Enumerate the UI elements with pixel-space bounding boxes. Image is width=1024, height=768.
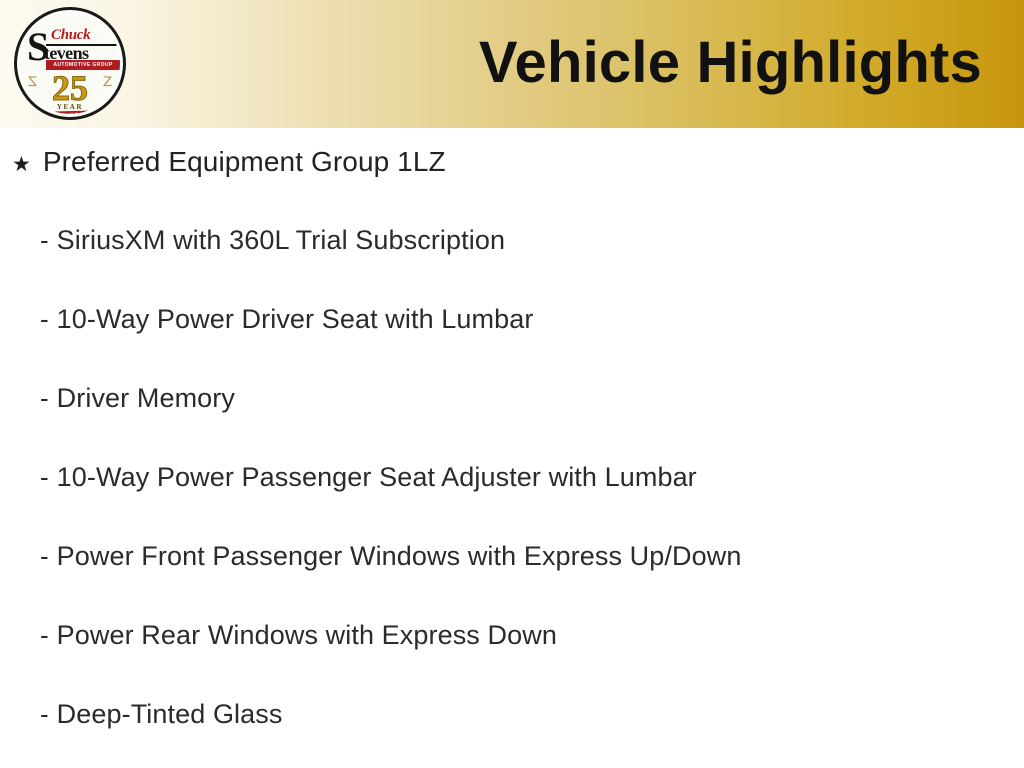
feature-label: Deep-Tinted Glass (57, 701, 283, 728)
feature-label: 10-Way Power Passenger Seat Adjuster wit… (57, 464, 697, 491)
dash-bullet-icon: - (40, 385, 49, 411)
dash-bullet-icon: - (40, 701, 49, 727)
dash-bullet-icon: - (40, 227, 49, 253)
feature-label: Driver Memory (57, 385, 235, 412)
dash-bullet-icon: - (40, 306, 49, 332)
logo-brand-second: tevens (44, 44, 88, 62)
dash-bullet-icon: - (40, 464, 49, 490)
dealer-logo: S Chuck tevens AUTOMOTIVE GROUP ᙆ ᙆ 25 Y… (14, 7, 126, 120)
feature-item: ★Preferred Equipment Group 1LZ (12, 148, 446, 176)
feature-item: -Power Front Passenger Windows with Expr… (40, 543, 741, 570)
feature-list: ★Preferred Equipment Group 1LZ-SiriusXM … (0, 128, 1024, 768)
header-band: S Chuck tevens AUTOMOTIVE GROUP ᙆ ᙆ 25 Y… (0, 0, 1024, 128)
anniversary-number: 25 (20, 70, 120, 106)
vehicle-highlights-slide: S Chuck tevens AUTOMOTIVE GROUP ᙆ ᙆ 25 Y… (0, 0, 1024, 768)
page-title: Vehicle Highlights (479, 34, 982, 92)
feature-item: -Deep-Tinted Glass (40, 701, 282, 728)
feature-label: 10-Way Power Driver Seat with Lumbar (57, 306, 534, 333)
dealer-logo-inner: S Chuck tevens AUTOMOTIVE GROUP ᙆ ᙆ 25 Y… (20, 13, 120, 114)
feature-label: Preferred Equipment Group 1LZ (43, 148, 446, 176)
feature-item: -Power Rear Windows with Express Down (40, 622, 557, 649)
feature-item: -10-Way Power Passenger Seat Adjuster wi… (40, 464, 697, 491)
feature-label: Power Front Passenger Windows with Expre… (57, 543, 742, 570)
logo-brand-first: Chuck (51, 28, 90, 43)
feature-item: -SiriusXM with 360L Trial Subscription (40, 227, 505, 254)
feature-item: -Driver Memory (40, 385, 235, 412)
logo-monogram-letter: S (27, 27, 49, 67)
anniversary-unit: YEAR (20, 103, 120, 111)
dash-bullet-icon: - (40, 543, 49, 569)
star-bullet-icon: ★ (12, 154, 31, 175)
logo-tagline: AUTOMOTIVE GROUP (48, 61, 118, 69)
dash-bullet-icon: - (40, 622, 49, 648)
feature-item: -10-Way Power Driver Seat with Lumbar (40, 306, 533, 333)
feature-label: Power Rear Windows with Express Down (57, 622, 557, 649)
feature-label: SiriusXM with 360L Trial Subscription (57, 227, 505, 254)
